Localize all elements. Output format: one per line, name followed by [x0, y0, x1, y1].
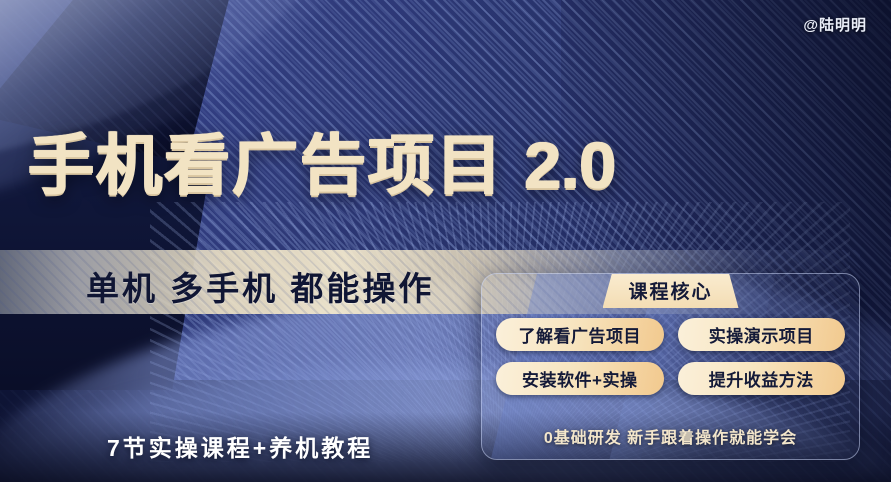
- course-core-pill[interactable]: 安装软件+实操: [496, 362, 664, 395]
- course-core-pill-grid: 了解看广告项目 实操演示项目 安装软件+实操 提升收益方法: [496, 318, 845, 395]
- subtitle: 单机 多手机 都能操作: [86, 262, 434, 310]
- course-core-pill[interactable]: 提升收益方法: [678, 362, 846, 395]
- course-core-pill-label: 了解看广告项目: [519, 322, 642, 347]
- course-core-pill-label: 实操演示项目: [709, 322, 814, 347]
- course-core-header: 课程核心: [603, 273, 739, 308]
- course-core-pill-label: 提升收益方法: [709, 366, 814, 391]
- course-count-text: 7节实操课程+养机教程: [107, 429, 373, 463]
- course-core-pill[interactable]: 实操演示项目: [678, 318, 846, 351]
- page-title-text: 手机看广告项目: [28, 128, 504, 202]
- page-title-version: 2.0: [524, 128, 616, 202]
- course-core-card: 课程核心 了解看广告项目 实操演示项目 安装软件+实操 提升收益方法 0基础研发…: [481, 273, 860, 460]
- page-title: 手机看广告项目 2.0: [28, 132, 616, 198]
- promo-banner: @陆明明 手机看广告项目 2.0 单机 多手机 都能操作 7节实操课程+养机教程…: [0, 0, 891, 482]
- course-core-header-label: 课程核心: [628, 277, 712, 304]
- course-core-pill-label: 安装软件+实操: [522, 366, 637, 391]
- course-core-pill[interactable]: 了解看广告项目: [496, 318, 664, 351]
- course-core-footnote: 0基础研发 新手跟着操作就能学会: [482, 424, 859, 448]
- author-handle: @陆明明: [803, 14, 867, 35]
